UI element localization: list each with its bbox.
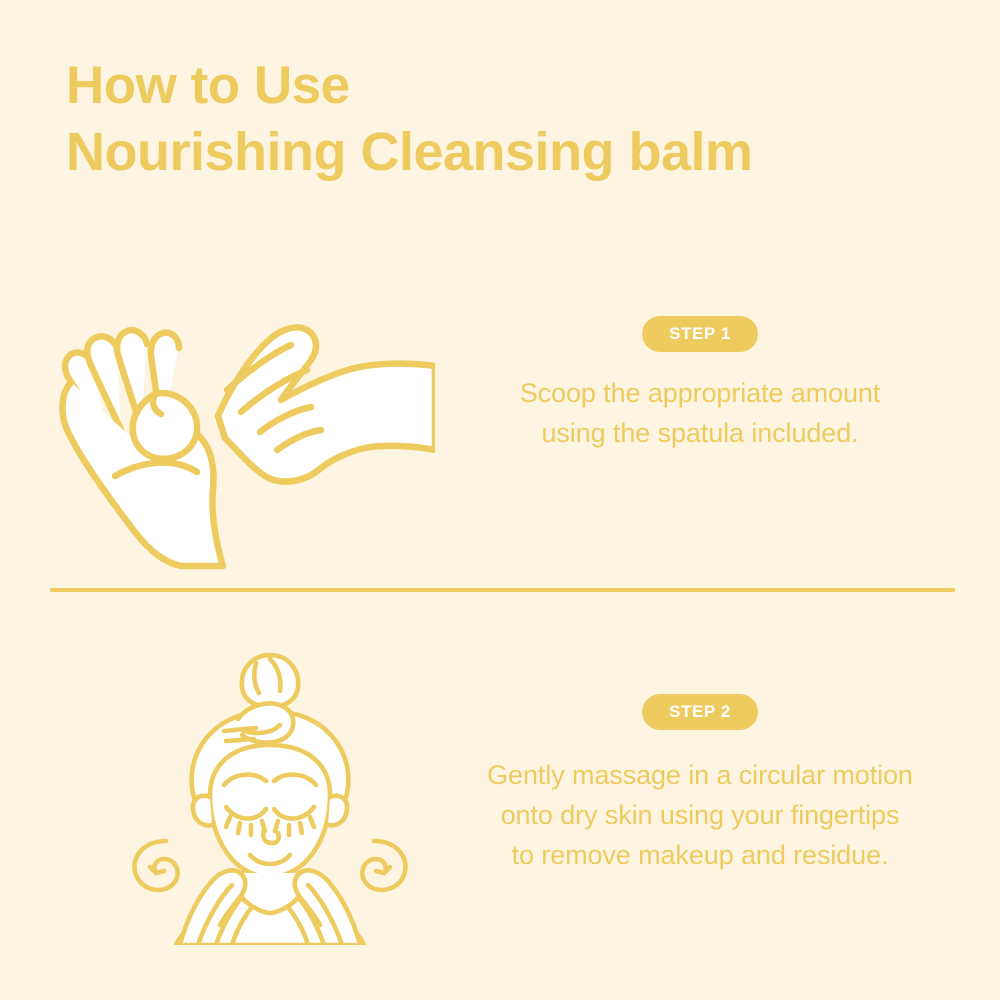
step-1-section: STEP 1 Scoop the appropriate amount usin…: [0, 290, 1000, 580]
step-1-description-line-2: using the spatula included.: [450, 413, 950, 453]
step-2-description: Gently massage in a circular motion onto…: [450, 755, 950, 875]
title-line-2: Nourishing Cleansing balm: [66, 124, 926, 180]
page-title: How to Use Nourishing Cleansing balm: [66, 58, 926, 180]
hands-scooping-balm-with-spatula-icon: [55, 290, 435, 580]
title-line-1: How to Use: [66, 58, 926, 114]
how-to-use-infographic: How to Use Nourishing Cleansing balm: [0, 0, 1000, 1000]
step-2-badge-wrap: STEP 2: [450, 694, 950, 730]
step-1-description-line-1: Scoop the appropriate amount: [450, 373, 950, 413]
status-badge: STEP 2: [642, 694, 758, 730]
step-1-text-column: STEP 1 Scoop the appropriate amount usin…: [450, 290, 950, 453]
step-1-description: Scoop the appropriate amount using the s…: [450, 373, 950, 453]
step-2-section: STEP 2 Gently massage in a circular moti…: [0, 645, 1000, 950]
step-2-description-line-2: onto dry skin using your fingertips: [450, 795, 950, 835]
woman-massaging-face-icon: [120, 645, 420, 945]
step-1-badge-wrap: STEP 1: [450, 316, 950, 352]
step-2-description-line-1: Gently massage in a circular motion: [450, 755, 950, 795]
status-badge: STEP 1: [642, 316, 758, 352]
step-2-description-line-3: to remove makeup and residue.: [450, 835, 950, 875]
step-2-text-column: STEP 2 Gently massage in a circular moti…: [450, 645, 950, 875]
section-divider: [50, 588, 955, 592]
